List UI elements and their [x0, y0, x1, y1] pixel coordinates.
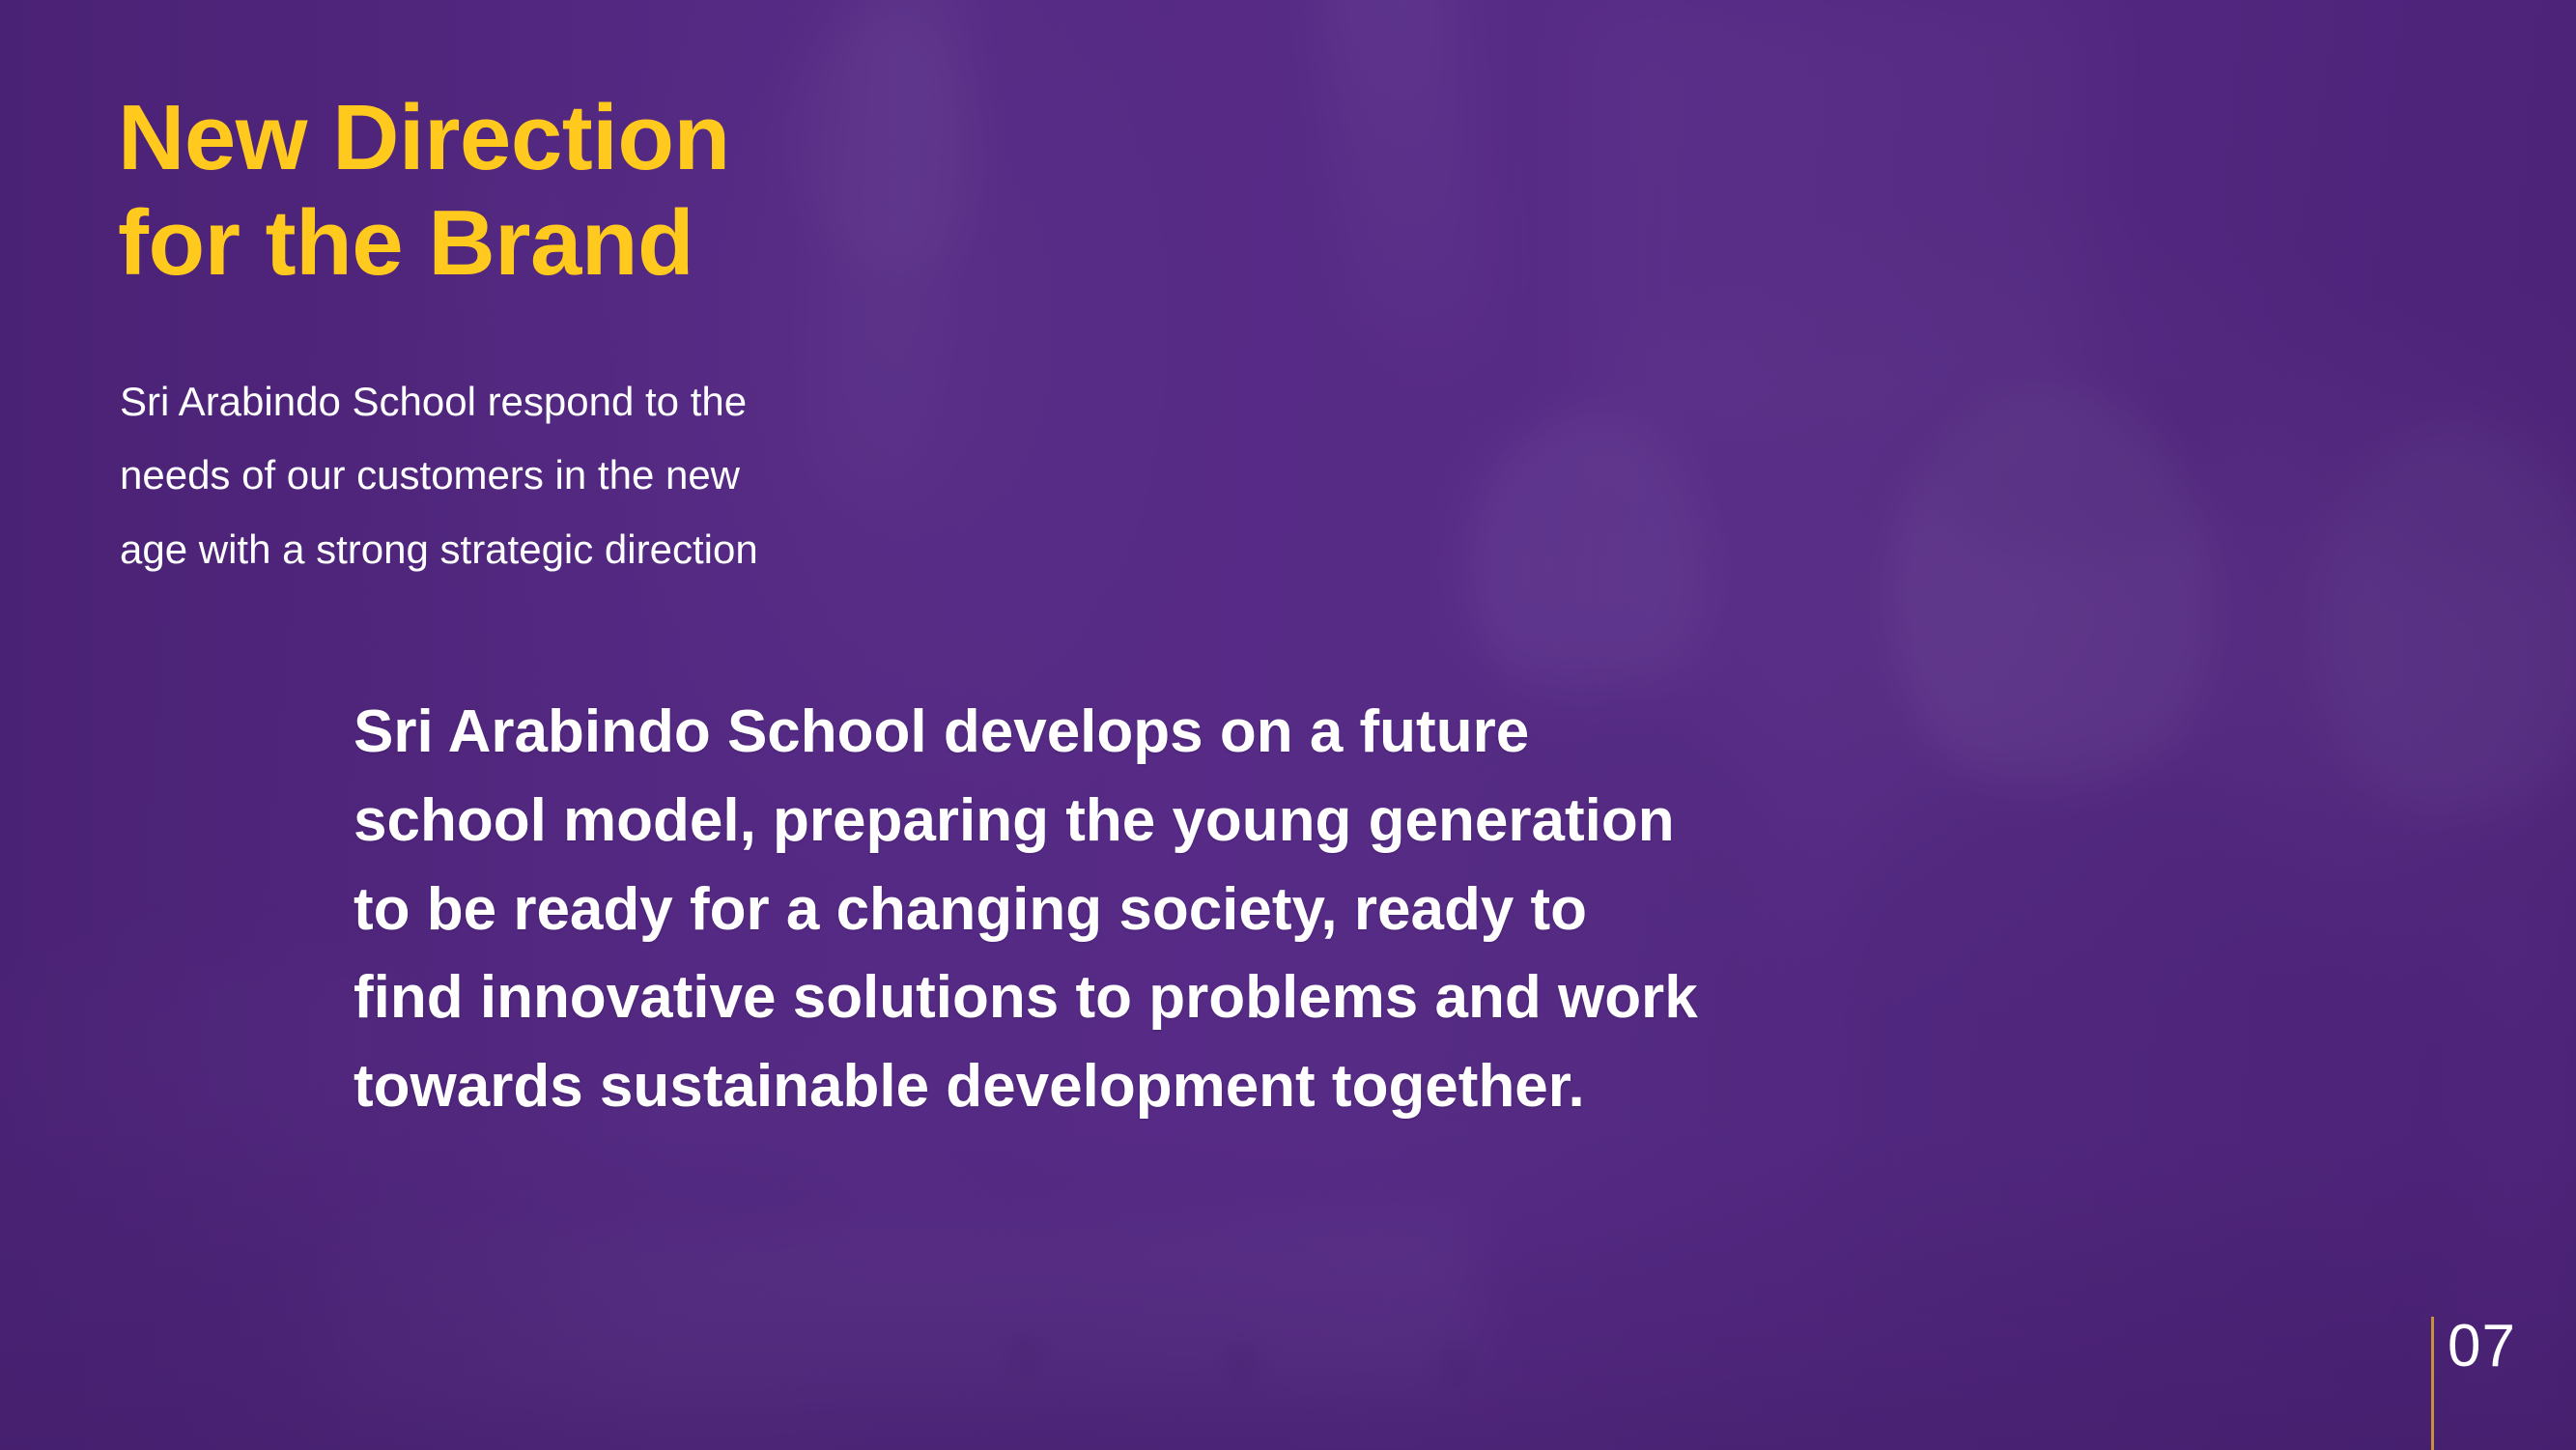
slide-subtitle: Sri Arabindo School respond to the needs…: [120, 365, 758, 586]
page-divider-rule: [2431, 1317, 2434, 1450]
slide-headline: New Direction for the Brand: [118, 85, 730, 297]
page-number: 07: [2448, 1317, 2516, 1377]
page-marker: 07: [2431, 1317, 2516, 1450]
presentation-slide: New Direction for the Brand Sri Arabindo…: [0, 0, 2576, 1450]
slide-content: New Direction for the Brand Sri Arabindo…: [0, 0, 2576, 1450]
slide-body-text: Sri Arabindo School develops on a future…: [354, 688, 2285, 1131]
